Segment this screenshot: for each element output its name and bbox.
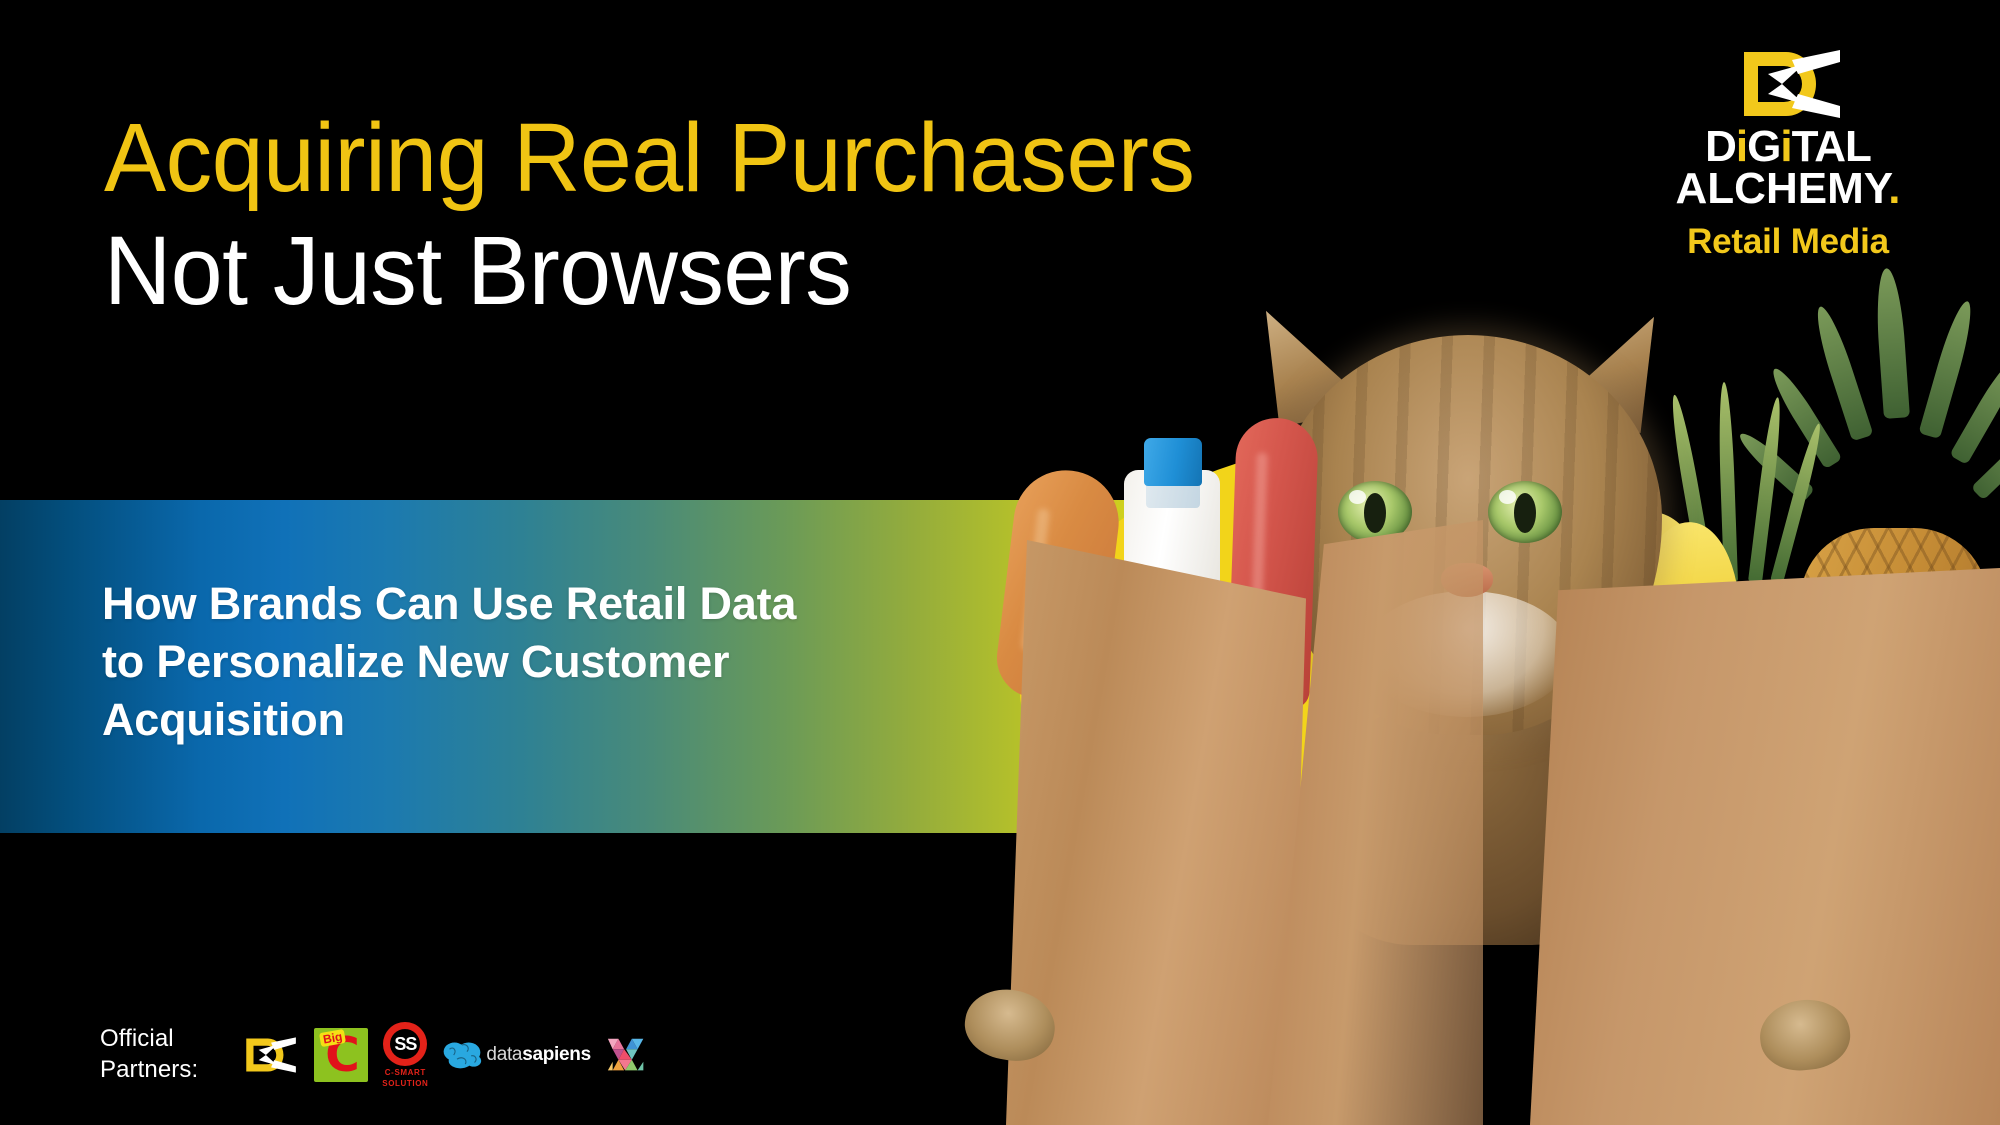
headline-line-2: Not Just Browsers xyxy=(104,217,1194,326)
c-smart-text-line-2: SOLUTION xyxy=(382,1079,428,1088)
partner-digital-alchemy[interactable] xyxy=(238,1029,300,1081)
brain-icon xyxy=(442,1039,482,1071)
digital-alchemy-mark-icon xyxy=(238,1029,300,1081)
c-smart-text-line-1: C-SMART xyxy=(385,1068,426,1077)
datasapiens-wordmark: datasapiens xyxy=(486,1044,590,1066)
page-title: Acquiring Real Purchasers Not Just Brows… xyxy=(104,108,1240,326)
cat-pupil-right xyxy=(1514,493,1536,533)
slide-canvas: How Brands Can Use Retail Data to Person… xyxy=(0,0,2000,1125)
cat-eye-shine-right xyxy=(1499,490,1516,504)
brand-wordmark: DiGiTAL ALCHEMY. xyxy=(1638,126,1938,210)
digital-alchemy-mark-icon xyxy=(1638,48,1938,120)
datasapiens-text-bold: sapiens xyxy=(522,1044,591,1065)
c-smart-monogram: SS xyxy=(394,1034,416,1055)
subtitle-text: How Brands Can Use Retail Data to Person… xyxy=(102,575,796,749)
brand-logo: DiGiTAL ALCHEMY. Retail Media xyxy=(1638,48,1938,262)
partner-datasapiens[interactable]: datasapiens xyxy=(442,1039,590,1071)
partners-label: Official Partners: xyxy=(100,1024,198,1085)
partner-x-mosaic[interactable] xyxy=(605,1032,651,1078)
official-partners: Official Partners: Big C SS C-SMART xyxy=(100,1022,651,1088)
cat-eye-shine-left xyxy=(1349,490,1366,504)
brand-name-line-1: DiGiTAL xyxy=(1638,126,1938,168)
milk-bottle-cap-icon xyxy=(1144,438,1202,486)
partner-big-c[interactable]: Big C xyxy=(314,1028,368,1082)
partner-c-smart-solution[interactable]: SS C-SMART SOLUTION xyxy=(382,1022,428,1088)
partner-logos: Big C SS C-SMART SOLUTION xyxy=(238,1022,651,1088)
x-mosaic-logo-icon xyxy=(605,1032,651,1078)
cat-pupil-left xyxy=(1364,493,1386,533)
brand-tagline: Retail Media xyxy=(1638,222,1938,262)
pineapple-leaf-icon xyxy=(1874,267,1910,418)
brand-name-line-2: ALCHEMY. xyxy=(1638,168,1938,210)
pineapple-leaf-icon xyxy=(1810,303,1874,441)
headline-line-1: Acquiring Real Purchasers xyxy=(104,108,1194,209)
c-smart-ring-icon: SS xyxy=(383,1022,427,1066)
datasapiens-text-light: data xyxy=(486,1044,522,1065)
cat-eye-right xyxy=(1488,481,1562,543)
